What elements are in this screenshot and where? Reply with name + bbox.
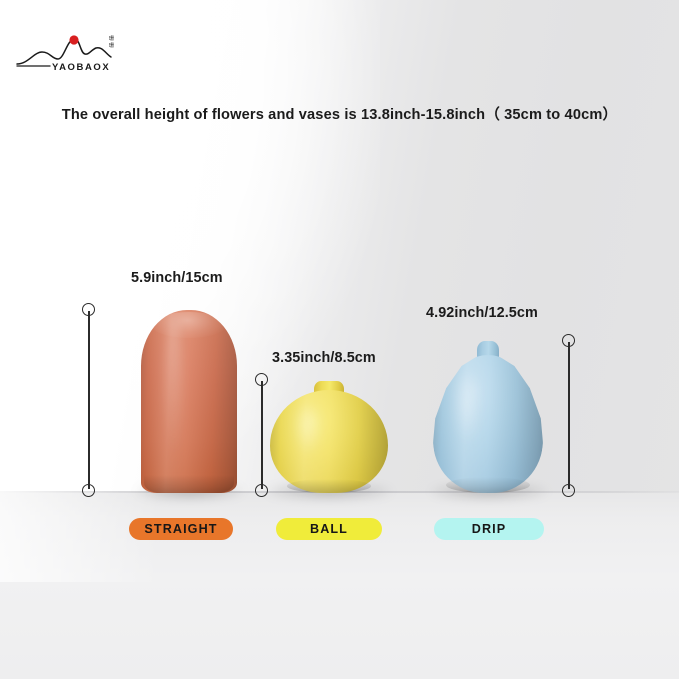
vase-straight: [141, 310, 237, 493]
vase-base-shade: [144, 475, 234, 493]
brand-wordmark: YAOBAOX: [52, 62, 110, 73]
vase-rim: [152, 312, 227, 338]
brand-logo: YAOBAOX 珊 珊: [14, 26, 126, 74]
dimension-label-straight: 5.9inch/15cm: [131, 270, 223, 286]
vase-body: [270, 390, 388, 493]
measure-bar-drip: [561, 334, 577, 497]
dimension-label-ball: 3.35inch/8.5cm: [272, 350, 376, 366]
vase-highlight: [294, 406, 322, 455]
vase-body: [433, 355, 543, 493]
badge-straight: STRAIGHT: [129, 518, 233, 540]
badge-drip: DRIP: [434, 518, 544, 540]
page-title: The overall height of flowers and vases …: [0, 103, 679, 124]
measure-stem: [88, 311, 90, 489]
vase-base-shade: [287, 479, 372, 493]
measure-stem: [261, 381, 263, 489]
badge-ball: BALL: [276, 518, 382, 540]
measure-bar-ball: [254, 373, 270, 497]
measure-bar-straight: [81, 303, 97, 497]
dimension-label-drip: 4.92inch/12.5cm: [426, 305, 538, 321]
vase-base-shade: [446, 477, 530, 493]
measure-cap-bottom: [82, 484, 95, 497]
measure-cap-bottom: [562, 484, 575, 497]
vase-drip: [433, 341, 543, 493]
svg-text:珊: 珊: [109, 43, 114, 49]
measure-stem: [568, 342, 570, 489]
svg-text:珊: 珊: [109, 36, 114, 42]
product-infographic: YAOBAOX 珊 珊 The overall height of flower…: [0, 0, 679, 679]
sun-dot: [69, 35, 78, 44]
vase-ball: [270, 381, 388, 493]
